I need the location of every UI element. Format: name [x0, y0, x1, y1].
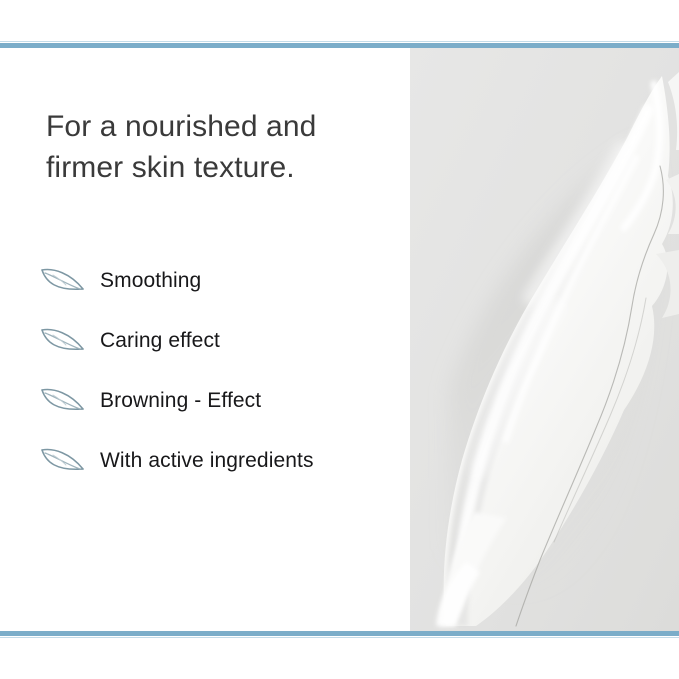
benefits-list: Smoothing Caring effect Browni [40, 251, 400, 491]
cream-texture-photo [410, 48, 679, 631]
leaf-icon [40, 264, 86, 298]
cream-texture-illustration [410, 48, 679, 631]
top-divider-hairline [0, 41, 679, 42]
leaf-icon [40, 444, 86, 478]
bottom-divider [0, 631, 679, 636]
text-column: For a nourished and firmer skin texture.… [0, 48, 410, 631]
list-item: With active ingredients [40, 431, 400, 491]
list-item-label: Browning - Effect [100, 389, 261, 413]
page-title: For a nourished and firmer skin texture. [46, 106, 386, 189]
list-item-label: Caring effect [100, 329, 220, 353]
list-item: Smoothing [40, 251, 400, 311]
product-feature-card: For a nourished and firmer skin texture.… [0, 0, 679, 679]
list-item-label: Smoothing [100, 269, 201, 293]
bottom-divider-hairline [0, 637, 679, 638]
leaf-icon [40, 384, 86, 418]
list-item: Browning - Effect [40, 371, 400, 431]
leaf-icon [40, 324, 86, 358]
list-item: Caring effect [40, 311, 400, 371]
list-item-label: With active ingredients [100, 449, 314, 473]
